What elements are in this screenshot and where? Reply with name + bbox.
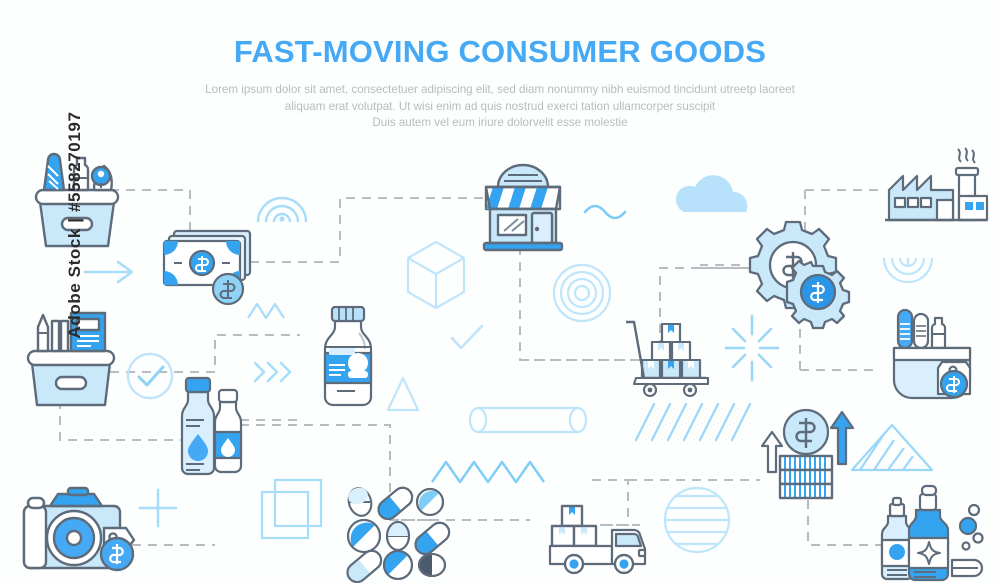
cleaning-bottles-icon [882, 482, 990, 582]
gears-money-icon [748, 218, 853, 323]
cart-boxes-icon [622, 318, 722, 398]
grocery-basket-icon [22, 150, 132, 260]
water-bottles-icon [172, 372, 262, 477]
page-subtitle: Lorem ipsum dolor sit amet, consectetuer… [0, 82, 1000, 132]
arc-fan-icon [884, 258, 932, 282]
zigzag-wide-icon [432, 462, 544, 482]
cash-money-icon [160, 225, 260, 310]
arrow-right-icon [85, 262, 132, 282]
wire-cube-icon [408, 242, 464, 308]
coin-growth-icon [758, 402, 868, 507]
shopping-bag-icon [884, 300, 984, 400]
hatch-lines-icon [636, 404, 750, 440]
wave-line-icon [585, 206, 625, 218]
pills-capsules-icon [342, 486, 452, 578]
striped-circle-icon [665, 488, 729, 552]
stationery-box-icon [14, 305, 129, 410]
concentric-circles-icon [554, 265, 610, 321]
checkmark-icon [452, 326, 482, 348]
storefront-icon [468, 155, 578, 260]
plus-sign-icon [140, 490, 176, 526]
product-bottle-icon [315, 303, 385, 408]
squares-overlap-icon [262, 480, 321, 538]
check-circle-icon [128, 354, 172, 398]
page-title: FAST-MOVING CONSUMER GOODS [0, 34, 1000, 70]
triangle-outline-icon [388, 378, 418, 410]
cylinder-icon [470, 408, 586, 432]
arc-rainbow-icon [258, 198, 306, 222]
delivery-truck-icon [546, 490, 656, 578]
cloud-icon [676, 175, 747, 212]
starburst-icon [726, 316, 778, 380]
illustration-canvas: FAST-MOVING CONSUMER GOODS Lorem ipsum d… [0, 0, 1000, 583]
factory-icon [883, 152, 988, 230]
camera-tag-icon [16, 482, 141, 577]
